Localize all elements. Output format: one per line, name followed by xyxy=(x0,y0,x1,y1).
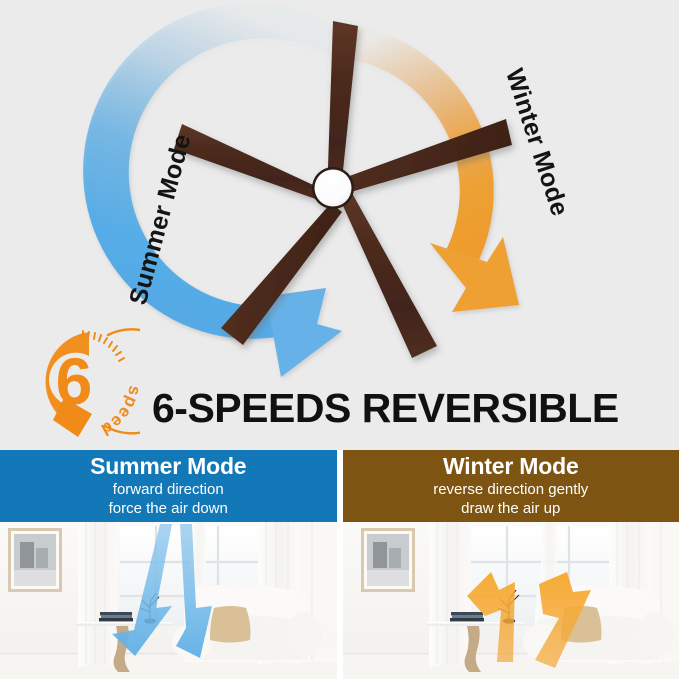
badge-speed-word: speed xyxy=(22,322,140,440)
summer-banner-title: Summer Mode xyxy=(90,454,246,480)
winter-banner-title: Winter Mode xyxy=(443,454,579,480)
six-speed-badge: 6 speed xyxy=(22,322,140,440)
mode-banner-row: Summer Mode forward direction force the … xyxy=(0,450,679,522)
fan-blade-5 xyxy=(174,124,327,203)
winter-mode-banner: Winter Mode reverse direction gently dra… xyxy=(343,450,679,522)
hero-illustration: Summer Mode Winter Mode xyxy=(0,0,679,448)
summer-banner-line2: force the air down xyxy=(109,501,228,518)
summer-banner-line1: forward direction xyxy=(113,482,224,499)
winter-banner-line2: draw the air up xyxy=(461,501,560,518)
winter-banner-line1: reverse direction gently xyxy=(433,482,588,499)
room-photo-row xyxy=(0,522,679,679)
upward-airflow-arrows xyxy=(343,522,679,679)
fan-blade-3 xyxy=(339,193,437,358)
product-feature-graphic: Summer Mode Winter Mode xyxy=(0,0,679,679)
winter-room-photo xyxy=(343,522,679,679)
page-title: 6-SPEEDS REVERSIBLE xyxy=(152,387,622,430)
downward-airflow-arrows xyxy=(0,522,337,679)
svg-text:speed: speed xyxy=(97,384,140,440)
summer-mode-banner: Summer Mode forward direction force the … xyxy=(0,450,337,522)
fan-hub xyxy=(312,167,354,209)
summer-room-photo xyxy=(0,522,337,679)
